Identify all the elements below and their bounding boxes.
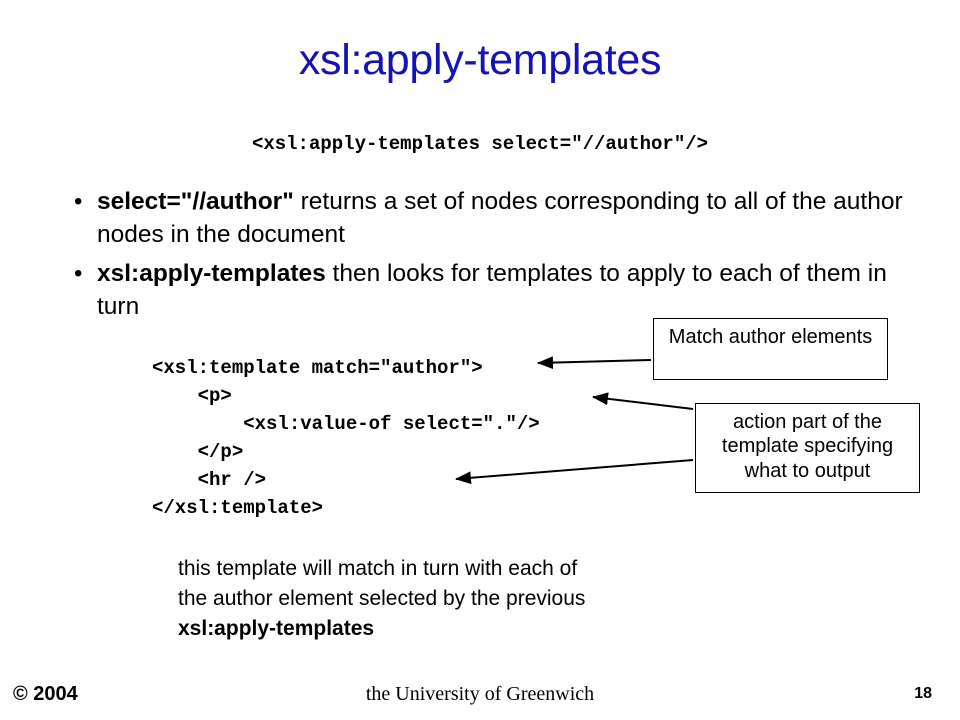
page-title: xsl:apply-templates	[0, 36, 960, 85]
footer-institution: the University of Greenwich	[0, 683, 960, 706]
callout-action-part: action part of the template specifying w…	[695, 403, 920, 493]
bullet-item-2-bold: xsl:apply-templates	[97, 260, 326, 287]
closing-note-line-3: xsl:apply-templates	[178, 617, 374, 640]
bullet-item-1: •select="//author" returns a set of node…	[60, 186, 920, 251]
code-block: <xsl:template match="author"> <p> <xsl:v…	[152, 355, 540, 523]
bullet-item-1-bold: select="//author"	[97, 188, 294, 215]
closing-note: this template will match in turn with ea…	[178, 554, 585, 643]
slide-canvas: xsl:apply-templates <xsl:apply-templates…	[0, 0, 960, 720]
footer-page-number: 18	[914, 685, 932, 703]
closing-note-line-1: this template will match in turn with ea…	[178, 554, 585, 584]
callout-match-author: Match author elements	[653, 318, 888, 380]
bullet-item-2: •xsl:apply-templates then looks for temp…	[60, 258, 920, 323]
bullet-list: •select="//author" returns a set of node…	[60, 186, 920, 330]
code-header-line: <xsl:apply-templates select="//author"/>	[0, 133, 960, 155]
closing-note-line-2: the author element selected by the previ…	[178, 584, 585, 614]
bullet-glyph-icon: •	[74, 258, 82, 290]
bullet-glyph-icon: •	[74, 186, 82, 218]
